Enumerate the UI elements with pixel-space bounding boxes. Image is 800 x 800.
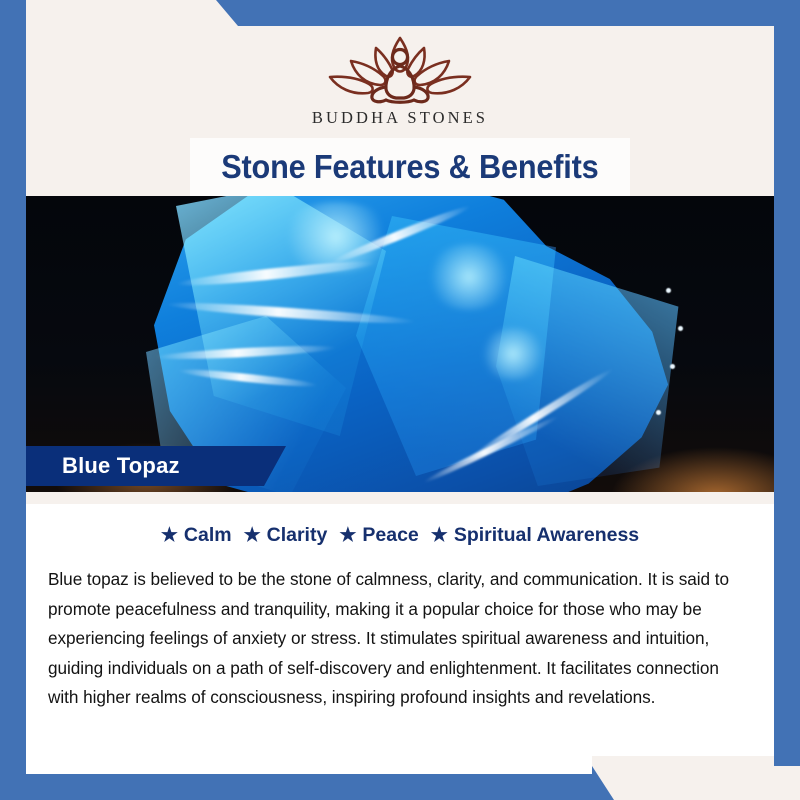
page-title: Stone Features & Benefits: [221, 148, 598, 186]
crystal-spark: [656, 410, 661, 415]
crystal-spark: [678, 326, 683, 331]
title-plate: Stone Features & Benefits: [190, 138, 630, 196]
keyword-item: ★ Peace: [339, 524, 418, 547]
poster-root: BUDDHA STONES Stone Features & Benefits …: [0, 0, 800, 800]
brand-name: BUDDHA STONES: [312, 108, 488, 128]
keyword-list: ★ Calm ★ Clarity ★ Peace ★ Spiritual Awa…: [38, 524, 762, 547]
crystal-glow: [424, 244, 514, 310]
star-icon: ★: [339, 526, 356, 545]
frame-left-bar: [0, 0, 26, 800]
stone-name: Blue Topaz: [62, 453, 180, 479]
keyword-label: Clarity: [267, 524, 328, 547]
keyword-label: Peace: [362, 524, 418, 547]
star-icon: ★: [244, 526, 261, 545]
lotus-meditation-icon: [314, 32, 486, 106]
brand-header: BUDDHA STONES: [26, 26, 774, 138]
content-divider: [26, 492, 774, 504]
frame-right-bar: [774, 0, 800, 766]
crystal-spark: [666, 288, 671, 293]
star-icon: ★: [431, 526, 448, 545]
content-panel: ★ Calm ★ Clarity ★ Peace ★ Spiritual Awa…: [26, 504, 774, 756]
keyword-label: Calm: [184, 524, 232, 547]
crystal-glow: [478, 328, 548, 380]
star-icon: ★: [161, 526, 178, 545]
stone-label-banner: Blue Topaz: [26, 446, 286, 486]
crystal-spark: [670, 364, 675, 369]
description-paragraph: Blue topaz is believed to be the stone o…: [38, 565, 762, 713]
keyword-label: Spiritual Awareness: [454, 524, 639, 547]
frame-top-bar: [0, 0, 800, 26]
keyword-item: ★ Calm: [161, 524, 232, 547]
keyword-item: ★ Clarity: [244, 524, 328, 547]
content-panel-tail: [26, 756, 592, 774]
keyword-item: ★ Spiritual Awareness: [431, 524, 639, 547]
